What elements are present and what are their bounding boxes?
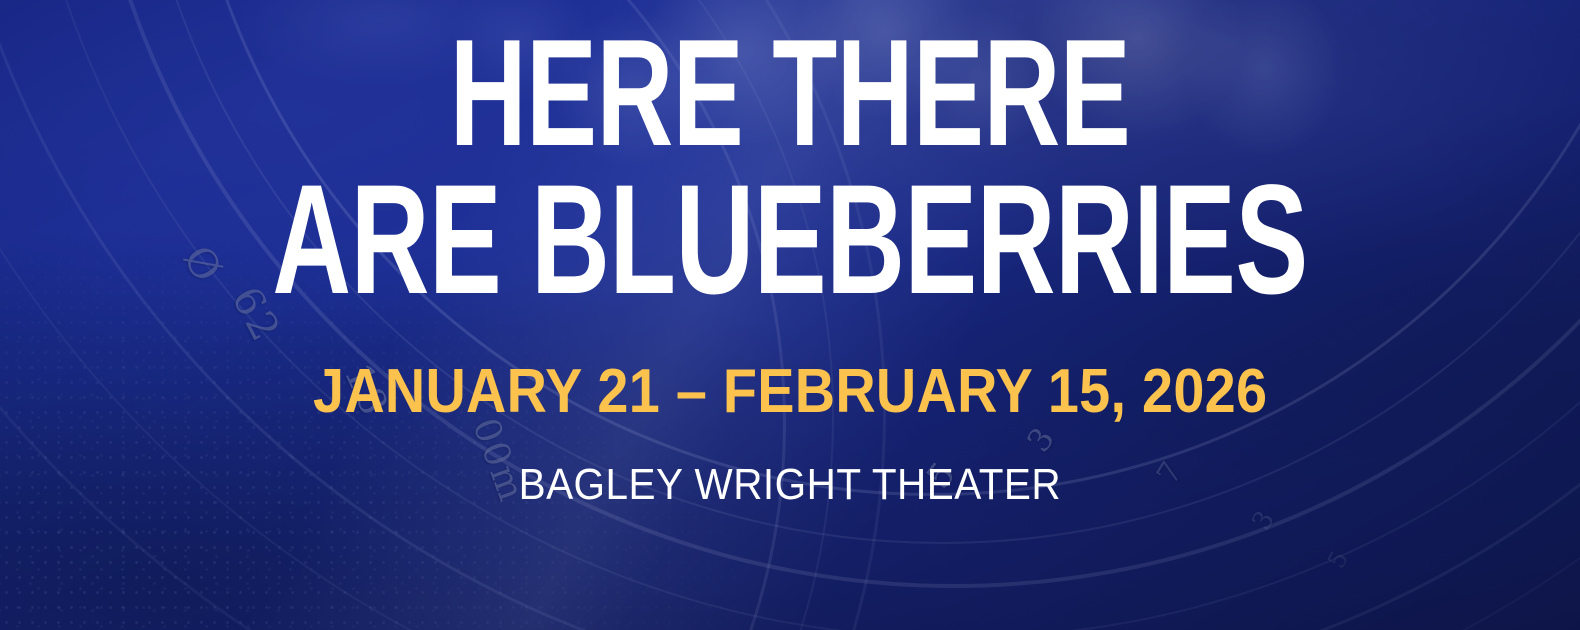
show-title-line-2: ARE BLUEBERRIES — [237, 173, 1343, 307]
show-title: HERE THERE ARE BLUEBERRIES — [0, 0, 1580, 307]
event-banner: Ø 62 18 00m 5 3 7 3 5 HERE THERE ARE BLU… — [0, 0, 1580, 630]
show-title-line-1: HERE THERE — [237, 28, 1343, 159]
venue-name: BAGLEY WRIGHT THEATER — [519, 463, 1062, 507]
performance-date-range: JANUARY 21 – FEBRUARY 15, 2026 — [313, 361, 1267, 423]
banner-content: HERE THERE ARE BLUEBERRIES JANUARY 21 – … — [0, 0, 1580, 630]
